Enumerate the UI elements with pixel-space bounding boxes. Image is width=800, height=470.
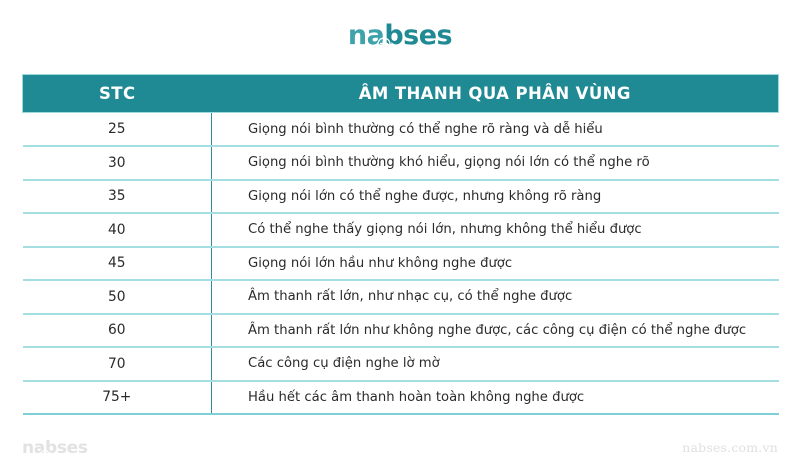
column-header-desc: ÂM THANH QUA PHÂN VÙNG bbox=[212, 75, 779, 113]
page-footer: nabses nabses.com.vn bbox=[0, 420, 800, 470]
table-body: 25 Giọng nói bình thường có thể nghe rõ … bbox=[23, 113, 779, 415]
table-row: 40 Có thể nghe thấy giọng nói lớn, nhưng… bbox=[23, 213, 779, 247]
table-head: STC ÂM THANH QUA PHÂN VÙNG bbox=[23, 75, 779, 113]
stc-table-container: STC ÂM THANH QUA PHÂN VÙNG 25 Giọng nói … bbox=[22, 74, 778, 415]
person-in-circle-icon bbox=[41, 445, 49, 453]
footer-watermark-logo: nabses bbox=[22, 440, 88, 457]
table-row: 25 Giọng nói bình thường có thể nghe rõ … bbox=[23, 113, 779, 147]
cell-desc: Giọng nói lớn hầu như không nghe được bbox=[212, 247, 779, 281]
cell-desc: Âm thanh rất lớn như không nghe được, cá… bbox=[212, 314, 779, 348]
cell-desc: Âm thanh rất lớn, như nhạc cụ, có thể ng… bbox=[212, 280, 779, 314]
cell-desc: Các công cụ điện nghe lờ mờ bbox=[212, 347, 779, 381]
cell-stc: 35 bbox=[23, 180, 212, 214]
table-row: 75+ Hầu hết các âm thanh hoàn toàn không… bbox=[23, 381, 779, 415]
brand-logo-suffix: bses bbox=[384, 22, 452, 49]
table-row: 70 Các công cụ điện nghe lờ mờ bbox=[23, 347, 779, 381]
cell-desc: Giọng nói bình thường có thể nghe rõ ràn… bbox=[212, 113, 779, 147]
cell-desc: Hầu hết các âm thanh hoàn toàn không ngh… bbox=[212, 381, 779, 415]
footer-url: nabses.com.vn bbox=[682, 440, 778, 455]
table-row: 45 Giọng nói lớn hầu như không nghe được bbox=[23, 247, 779, 281]
column-header-stc: STC bbox=[23, 75, 212, 113]
cell-stc: 70 bbox=[23, 347, 212, 381]
cell-stc: 30 bbox=[23, 146, 212, 180]
cell-stc: 45 bbox=[23, 247, 212, 281]
table-header-row: STC ÂM THANH QUA PHÂN VÙNG bbox=[23, 75, 779, 113]
person-in-circle-icon bbox=[378, 29, 391, 42]
cell-desc: Giọng nói lớn có thể nghe được, nhưng kh… bbox=[212, 180, 779, 214]
table-row: 60 Âm thanh rất lớn như không nghe được,… bbox=[23, 314, 779, 348]
table-row: 30 Giọng nói bình thường khó hiểu, giọng… bbox=[23, 146, 779, 180]
stc-table: STC ÂM THANH QUA PHÂN VÙNG 25 Giọng nói … bbox=[22, 74, 779, 415]
table-row: 50 Âm thanh rất lớn, như nhạc cụ, có thể… bbox=[23, 280, 779, 314]
brand-logo: nabses bbox=[348, 22, 452, 49]
cell-stc: 40 bbox=[23, 213, 212, 247]
footer-logo-suffix: bses bbox=[45, 440, 88, 457]
cell-stc: 50 bbox=[23, 280, 212, 314]
cell-stc: 25 bbox=[23, 113, 212, 147]
cell-stc: 60 bbox=[23, 314, 212, 348]
cell-desc: Giọng nói bình thường khó hiểu, giọng nó… bbox=[212, 146, 779, 180]
table-row: 35 Giọng nói lớn có thể nghe được, nhưng… bbox=[23, 180, 779, 214]
cell-stc: 75+ bbox=[23, 381, 212, 415]
cell-desc: Có thể nghe thấy giọng nói lớn, nhưng kh… bbox=[212, 213, 779, 247]
page-header: nabses bbox=[0, 0, 800, 70]
